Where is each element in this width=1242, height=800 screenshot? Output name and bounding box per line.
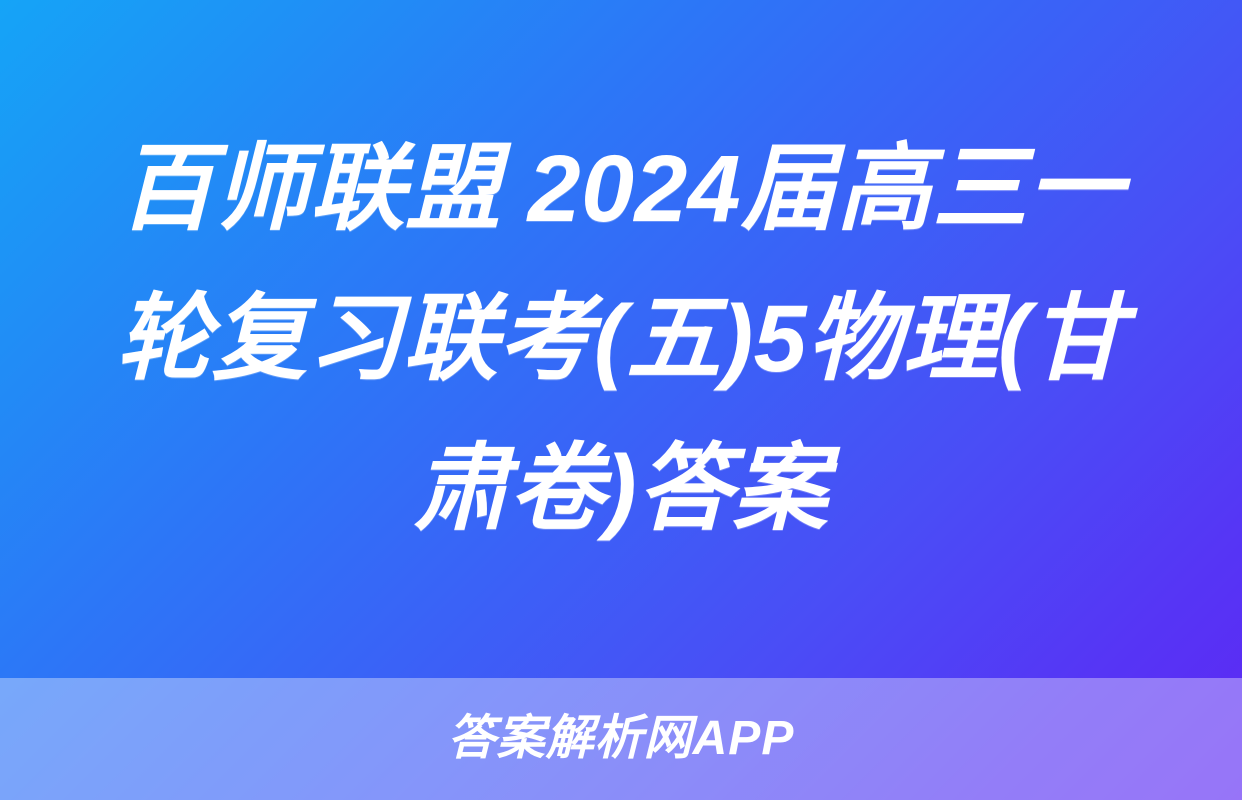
poster-background: 百师联盟 2024届高三一轮复习联考(五)5物理(甘肃卷)答案 答案解析网APP: [0, 0, 1242, 800]
page-title: 百师联盟 2024届高三一轮复习联考(五)5物理(甘肃卷)答案: [72, 114, 1170, 564]
app-promo-banner[interactable]: 答案解析网APP: [0, 678, 1242, 800]
title-block: 百师联盟 2024届高三一轮复习联考(五)5物理(甘肃卷)答案: [0, 0, 1242, 678]
app-promo-banner-label: 答案解析网APP: [448, 715, 795, 763]
